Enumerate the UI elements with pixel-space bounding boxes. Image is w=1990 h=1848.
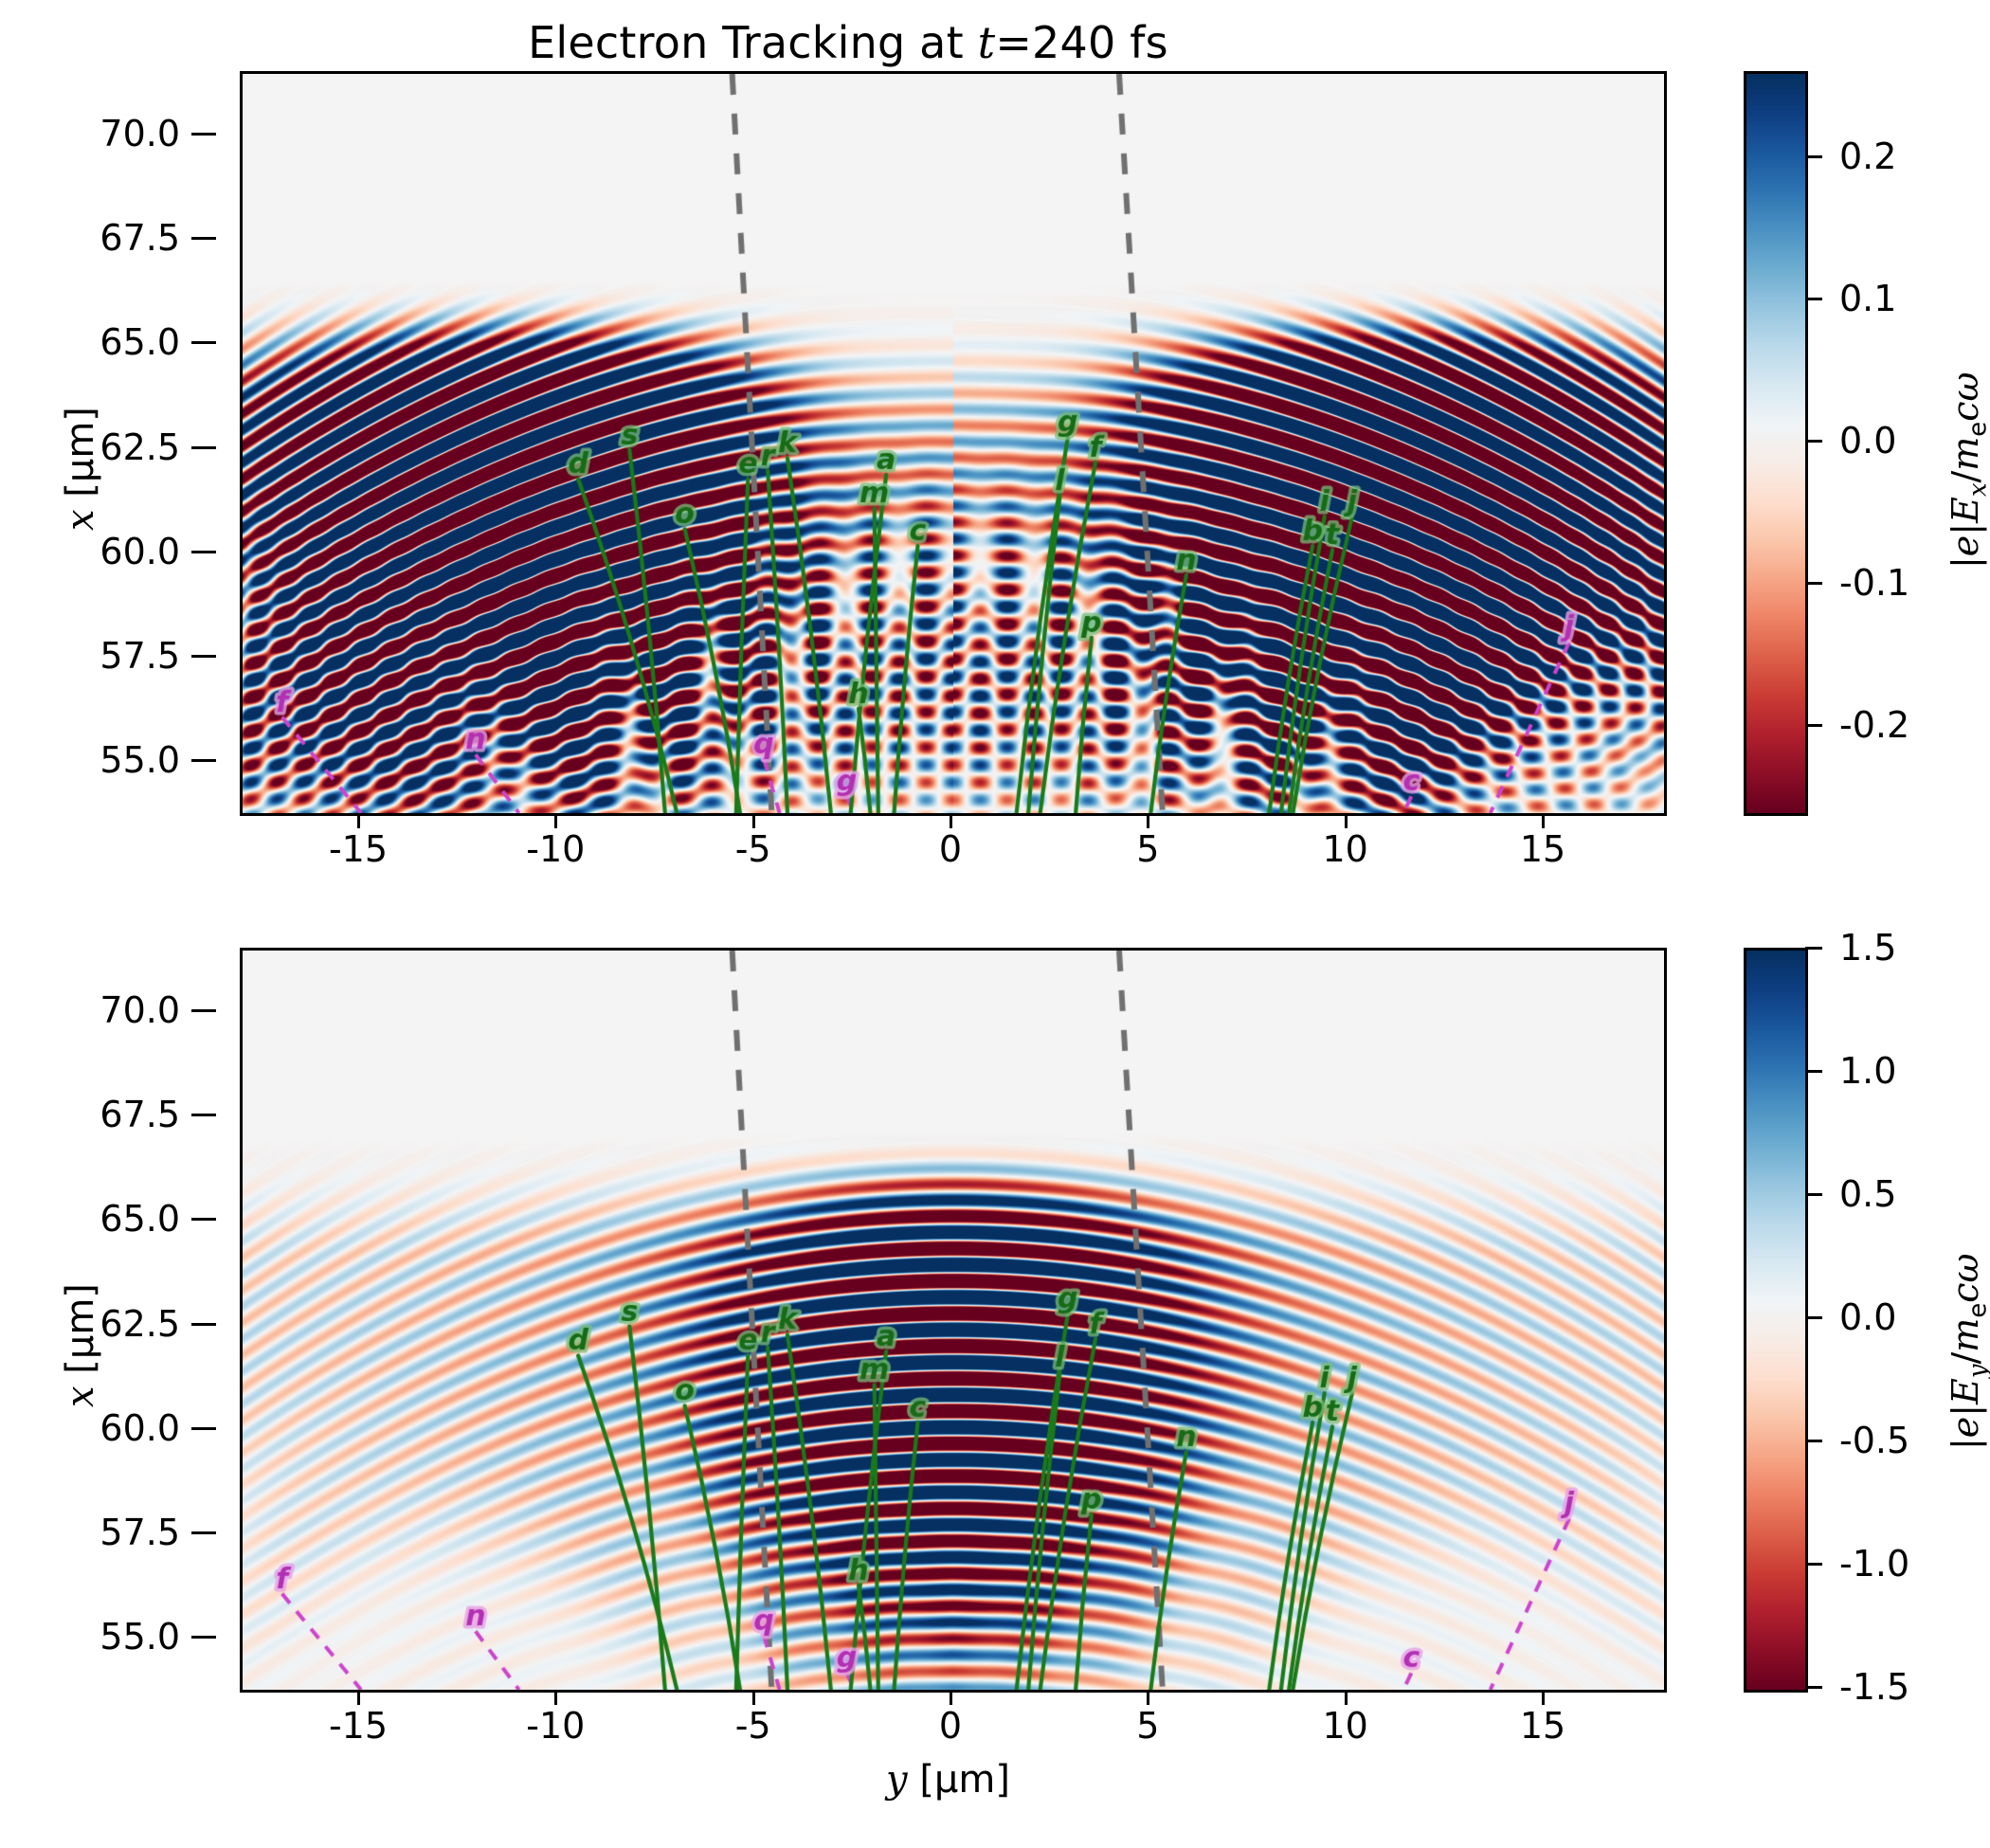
colorbar-tick-mark (1805, 440, 1822, 443)
x-tick-label: -10 (526, 1705, 585, 1747)
y-tick-label: 70.0 (99, 113, 180, 154)
y-axis-label-top: x [μm] (59, 407, 102, 531)
x-tick-mark (1542, 813, 1545, 828)
x-tick-mark (1345, 1690, 1348, 1705)
x-tick-mark (950, 1690, 952, 1705)
colorbar-tick-mark (1805, 947, 1822, 950)
y-tick-label: 55.0 (99, 739, 180, 781)
figure-root: Electron Tracking at t=240 fs 55.057.560… (0, 0, 1990, 1848)
x-tick-mark (1345, 813, 1348, 828)
colorbar-ey-label: |e|Ey/mecω (1945, 1253, 1990, 1450)
colorbar-ey (1744, 948, 1808, 1693)
x-tick-mark (950, 813, 952, 828)
y-tick-label: 65.0 (99, 321, 180, 363)
colorbar-tick-label: 0.0 (1839, 1296, 1896, 1338)
title-prefix: Electron Tracking at (528, 17, 977, 68)
y-tick-mark (191, 1323, 216, 1326)
panel-ex-field (240, 71, 1667, 816)
y-tick-label: 57.5 (99, 635, 180, 677)
colorbar-ex (1744, 71, 1808, 816)
colorbar-tick-mark (1805, 1193, 1822, 1196)
y-tick-mark (191, 1636, 216, 1639)
y-tick-mark (191, 341, 216, 344)
y-tick-label: 62.5 (99, 426, 180, 468)
x-tick-label: -10 (526, 828, 585, 870)
panel-ey-field (240, 948, 1667, 1693)
x-tick-mark (357, 1690, 360, 1705)
colorbar-tick-label: 0.2 (1839, 136, 1896, 177)
figure-title: Electron Tracking at t=240 fs (0, 17, 1696, 68)
x-tick-label: 10 (1322, 828, 1367, 870)
x-tick-label: -15 (329, 828, 388, 870)
colorbar-tick-label: -1.0 (1839, 1543, 1909, 1585)
colorbar-tick-mark (1805, 582, 1822, 585)
colorbar-tick-mark (1805, 1686, 1822, 1689)
y-tick-label: 62.5 (99, 1303, 180, 1345)
x-tick-label: -15 (329, 1705, 388, 1747)
x-tick-label: 10 (1322, 1705, 1367, 1747)
y-axis-label-bottom: x [μm] (59, 1283, 102, 1407)
x-tick-mark (752, 1690, 755, 1705)
y-tick-mark (191, 1114, 216, 1116)
x-tick-mark (752, 813, 755, 828)
colorbar-tick-mark (1805, 298, 1822, 300)
x-axis-ticks-bottom: -15-10-5051015 (240, 1690, 1661, 1756)
colorbar-tick-label: -1.5 (1839, 1666, 1909, 1708)
colorbar-tick-mark (1805, 155, 1822, 158)
y-tick-mark (191, 1427, 216, 1430)
colorbar-tick-mark (1805, 1316, 1822, 1319)
title-variable: t (978, 17, 996, 68)
x-axis-label: y [μm] (886, 1758, 1010, 1802)
y-tick-label: 65.0 (99, 1198, 180, 1240)
colorbar-ex-label: |e|Ex/mecω (1945, 372, 1990, 570)
y-tick-mark (191, 133, 216, 136)
colorbar-tick-label: -0.1 (1839, 562, 1909, 604)
x-tick-mark (1147, 1690, 1149, 1705)
x-tick-mark (1147, 813, 1149, 828)
x-tick-mark (1542, 1690, 1545, 1705)
colorbar-tick-label: 0.0 (1839, 420, 1896, 462)
colorbar-tick-label: -0.2 (1839, 704, 1909, 746)
x-tick-mark (554, 813, 557, 828)
colorbar-tick-label: -0.5 (1839, 1420, 1909, 1461)
y-tick-label: 57.5 (99, 1512, 180, 1553)
y-tick-label: 55.0 (99, 1616, 180, 1658)
y-tick-label: 67.5 (99, 217, 180, 259)
colorbar-ey-gradient (1746, 951, 1805, 1690)
y-tick-label: 67.5 (99, 1094, 180, 1135)
x-tick-label: -5 (735, 828, 771, 870)
y-tick-label: 70.0 (99, 989, 180, 1031)
colorbar-tick-label: 0.5 (1839, 1173, 1896, 1215)
y-tick-mark (191, 759, 216, 762)
y-tick-mark (191, 1531, 216, 1534)
y-tick-mark (191, 655, 216, 658)
colorbar-tick-label: 1.5 (1839, 927, 1896, 969)
colorbar-tick-mark (1805, 1440, 1822, 1442)
y-tick-mark (191, 1218, 216, 1221)
x-tick-label: 15 (1520, 1705, 1565, 1747)
ex-trajectory-overlay (243, 74, 1664, 813)
x-tick-label: 0 (939, 1705, 962, 1747)
ey-trajectory-overlay (243, 951, 1664, 1690)
x-tick-mark (554, 1690, 557, 1705)
x-tick-label: 5 (1136, 828, 1159, 870)
y-tick-label: 60.0 (99, 1407, 180, 1449)
title-equation: =240 fs (995, 17, 1168, 68)
y-tick-mark (191, 446, 216, 449)
x-tick-label: 5 (1136, 1705, 1159, 1747)
colorbar-tick-label: 0.1 (1839, 278, 1896, 319)
y-tick-mark (191, 237, 216, 240)
x-tick-label: 0 (939, 828, 962, 870)
y-tick-mark (191, 1009, 216, 1012)
colorbar-tick-label: 1.0 (1839, 1050, 1896, 1092)
x-tick-mark (357, 813, 360, 828)
x-tick-label: -5 (735, 1705, 771, 1747)
colorbar-ex-gradient (1746, 74, 1805, 813)
y-tick-label: 60.0 (99, 531, 180, 572)
y-tick-mark (191, 551, 216, 553)
colorbar-tick-mark (1805, 724, 1822, 727)
colorbar-tick-mark (1805, 1070, 1822, 1073)
x-tick-label: 15 (1520, 828, 1565, 870)
colorbar-tick-mark (1805, 1563, 1822, 1566)
x-axis-ticks-top: -15-10-5051015 (240, 813, 1661, 879)
